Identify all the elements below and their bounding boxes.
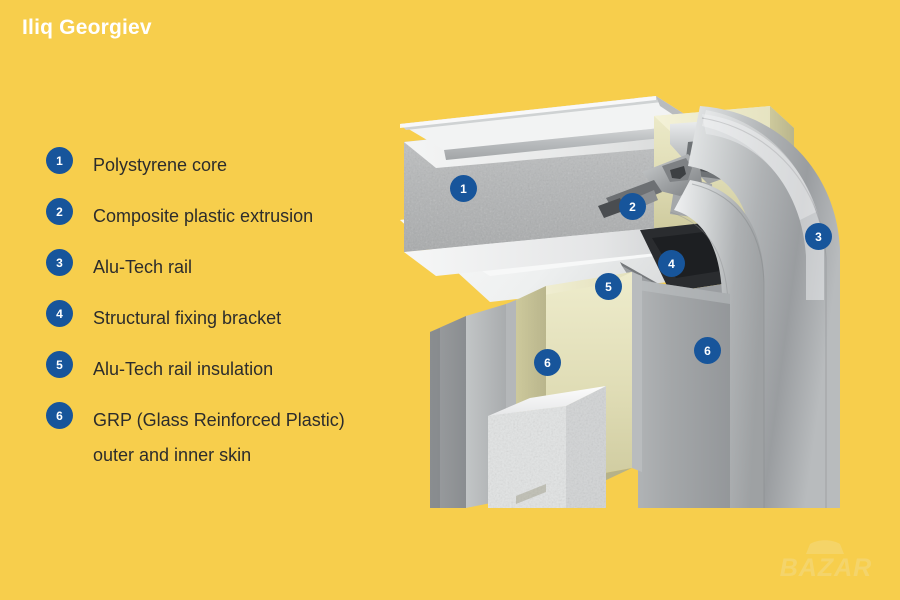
wall-outer-skin [638, 280, 730, 508]
legend-item-4: 4 Structural fixing bracket [46, 300, 426, 351]
legend-label-6: GRP (Glass Reinforced Plastic) outer and… [93, 402, 426, 473]
legend-badge-5: 5 [46, 351, 73, 378]
watermark-bag-icon [806, 540, 844, 554]
bazar-watermark: BAZAR [766, 540, 886, 586]
callout-badge-6-right: 6 [694, 337, 721, 364]
legend-label-6-line2: outer and inner skin [93, 438, 426, 473]
legend-item-1: 1 Polystyrene core [46, 147, 426, 198]
legend-label-1: Polystyrene core [93, 147, 426, 183]
callout-badge-1: 1 [450, 175, 477, 202]
legend-badge-2: 2 [46, 198, 73, 225]
panel-cutaway-illustration [370, 80, 900, 520]
legend-label-5: Alu-Tech rail insulation [93, 351, 426, 387]
callout-badge-6-left: 6 [534, 349, 561, 376]
page-title: Iliq Georgiev [22, 16, 152, 40]
legend-badge-1: 1 [46, 147, 73, 174]
legend-label-4: Structural fixing bracket [93, 300, 426, 336]
legend-badge-4: 4 [46, 300, 73, 327]
legend-list: 1 Polystyrene core 2 Composite plastic e… [46, 147, 426, 473]
callout-badge-5: 5 [595, 273, 622, 300]
legend-label-2: Composite plastic extrusion [93, 198, 426, 234]
legend-label-3: Alu-Tech rail [93, 249, 426, 285]
legend-item-6: 6 GRP (Glass Reinforced Plastic) outer a… [46, 402, 426, 473]
callout-badge-2: 2 [619, 193, 646, 220]
legend-item-3: 3 Alu-Tech rail [46, 249, 426, 300]
legend-badge-3: 3 [46, 249, 73, 276]
legend-label-6-line1: GRP (Glass Reinforced Plastic) [93, 410, 345, 430]
legend-item-2: 2 Composite plastic extrusion [46, 198, 426, 249]
legend-badge-6: 6 [46, 402, 73, 429]
legend-item-5: 5 Alu-Tech rail insulation [46, 351, 426, 402]
callout-badge-3: 3 [805, 223, 832, 250]
callout-badge-4: 4 [658, 250, 685, 277]
watermark-text: BAZAR [780, 554, 873, 582]
poster-canvas: Iliq Georgiev [0, 0, 900, 600]
